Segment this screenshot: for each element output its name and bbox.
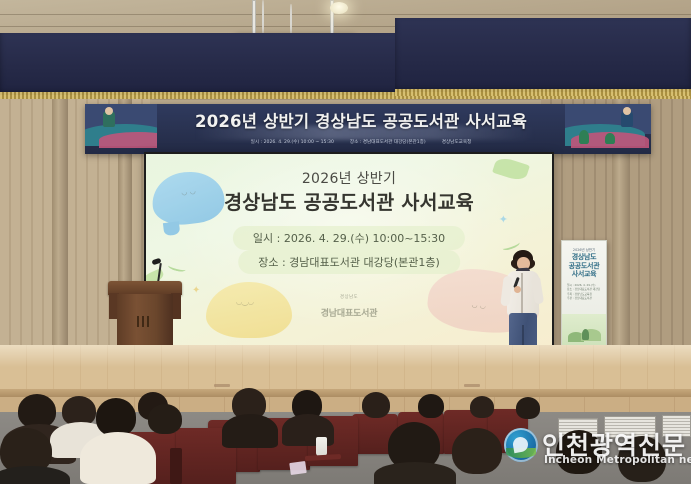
handout-paper xyxy=(289,461,307,475)
valance-fringe-right xyxy=(395,89,691,96)
rollup-title-line2: 공공도서관 xyxy=(562,262,606,271)
screen-date-pill: 일시 : 2026. 4. 29.(수) 10:00~15:30 xyxy=(233,226,465,250)
audience-member xyxy=(452,428,502,474)
auditorium-photo: 2026년 상반기 경상남도 공공도서관 사서교육 일시 : 2026. 4. … xyxy=(0,0,691,484)
screen-logo-org: 경상남도 xyxy=(146,294,552,300)
rollup-banner: 2026년 상반기 경상남도 공공도서관 사서교육 일시 : 2026. 4. … xyxy=(561,240,607,361)
stage-floor-reflection xyxy=(0,345,691,367)
stage-valance-right xyxy=(395,18,691,92)
screen-place-pill: 장소 : 경남대표도서관 대강당(본관1층) xyxy=(238,250,460,274)
hall-banner-title: 2026년 상반기 경상남도 공공도서관 사서교육 xyxy=(157,107,565,133)
rollup-meta-line2: 장소 : 경남대표도서관 대강당 xyxy=(567,287,601,291)
audience-member xyxy=(148,404,182,434)
watermark: 인천광역신문 Incheon Metropolitan newspaper xyxy=(504,424,684,472)
audience-member xyxy=(18,394,56,428)
rollup-title-line3: 사서교육 xyxy=(562,270,606,279)
projection-screen: ◡ ◡ ◡‿◡ ◡ ◡ ✦ ✦ 2026년 상반기 경상남도 공공도서관 사서교… xyxy=(144,152,554,347)
screen-kicker: 2026년 상반기 xyxy=(146,168,552,188)
screen-library-logo: 경상남도 경남대표도서관 xyxy=(146,294,552,320)
audience-member xyxy=(96,398,136,436)
rollup-meta: 일시 : 2026. 4. 29.(수) 장소 : 경남대표도서관 대강당 주최… xyxy=(567,283,601,300)
banner-illustration-left xyxy=(85,104,157,154)
rollup-kicker: 2026년 상반기 xyxy=(562,247,606,252)
rollup-title: 경상남도 공공도서관 사서교육 xyxy=(562,253,606,279)
hall-banner-org: 경상남도교육청 xyxy=(442,139,472,145)
hall-banner: 2026년 상반기 경상남도 공공도서관 사서교육 일시 : 2026. 4. … xyxy=(85,104,651,154)
watermark-english: Incheon Metropolitan newspaper xyxy=(544,454,691,466)
water-cup xyxy=(316,437,327,456)
rollup-illustration xyxy=(562,314,606,346)
hall-banner-place: 장소 : 경남대표도서관 대강당(본관1층) xyxy=(350,139,426,145)
newspaper-logo-icon xyxy=(504,428,538,462)
audience-member xyxy=(362,392,390,418)
audience-member xyxy=(470,396,494,418)
ceiling-spotlight xyxy=(330,2,348,14)
screen-title: 경상남도 공공도서관 사서교육 xyxy=(146,186,552,215)
audience-member xyxy=(516,397,540,419)
hall-banner-subtitle: 일시 : 2026. 4. 29.(수) 10:00 ~ 15:30 장소 : … xyxy=(157,134,565,150)
hall-banner-date: 일시 : 2026. 4. 29.(수) 10:00 ~ 15:30 xyxy=(251,139,334,145)
rollup-title-line1: 경상남도 xyxy=(562,253,606,262)
screen-logo-name: 경남대표도서관 xyxy=(321,309,378,319)
plus-decor: ✦ xyxy=(499,214,508,225)
audience-member xyxy=(418,394,444,418)
rollup-meta-line4: 주관 : 경남대표도서관 xyxy=(567,296,601,300)
banner-illustration-right xyxy=(565,104,651,154)
